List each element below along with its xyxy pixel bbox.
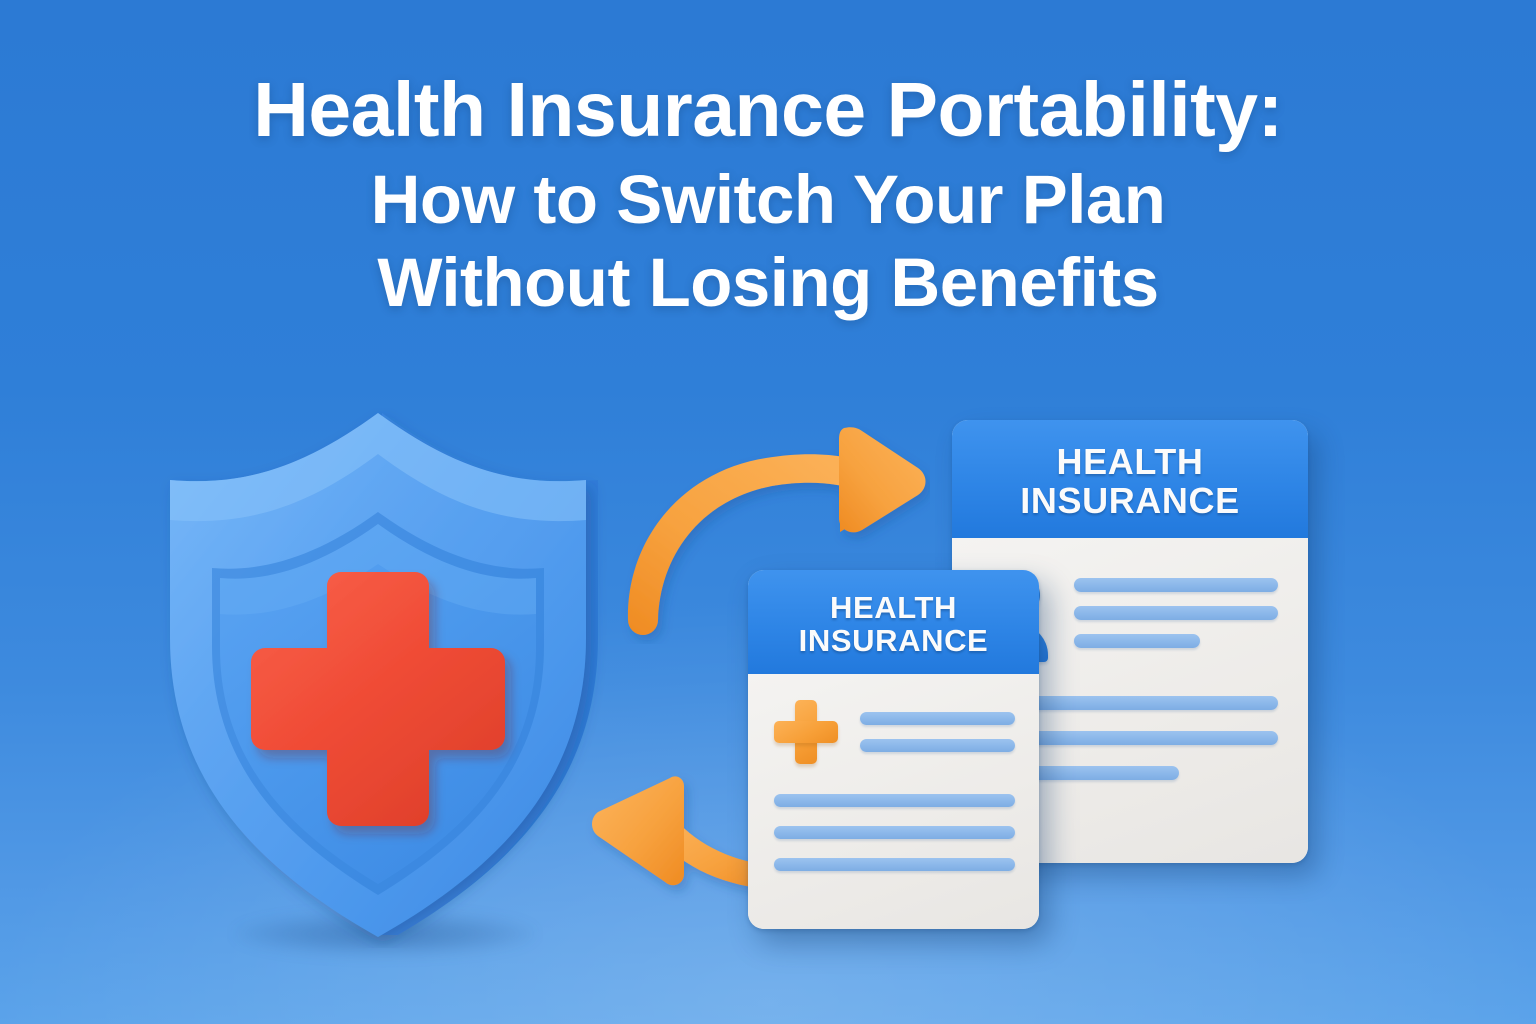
card-back-header: HEALTH INSURANCE [952,420,1308,538]
title-line-2: How to Switch Your Plan [0,165,1536,234]
card-front-bottom-bars [748,764,1039,871]
card-back-top-bars [1074,572,1278,648]
insurance-card-front[interactable]: HEALTH INSURANCE [748,570,1039,929]
hero-graphic-canvas: Health Insurance Portability: How to Swi… [0,0,1536,1024]
card-front-body [748,674,1039,929]
text-bar [774,794,1015,807]
text-bar [774,858,1015,871]
orange-cross-icon [774,700,838,764]
card-back-header-line-2: INSURANCE [1020,482,1239,521]
text-bar [1074,578,1278,592]
card-back-header-line-1: HEALTH [1057,443,1204,482]
text-bar [774,826,1015,839]
title-line-1: Health Insurance Portability: [0,72,1536,149]
text-bar [860,739,1015,752]
card-front-header-line-2: INSURANCE [799,624,989,657]
title-line-3: Without Losing Benefits [0,248,1536,317]
card-front-header-line-1: HEALTH [830,591,957,624]
card-front-top-row [748,674,1039,764]
card-front-top-bars [860,700,1015,752]
text-bar [1074,606,1278,620]
page-title: Health Insurance Portability: How to Swi… [0,72,1536,317]
card-front-header: HEALTH INSURANCE [748,570,1039,674]
shield-illustration [160,408,610,948]
shield-icon [160,408,610,948]
text-bar [1074,634,1200,648]
text-bar [860,712,1015,725]
